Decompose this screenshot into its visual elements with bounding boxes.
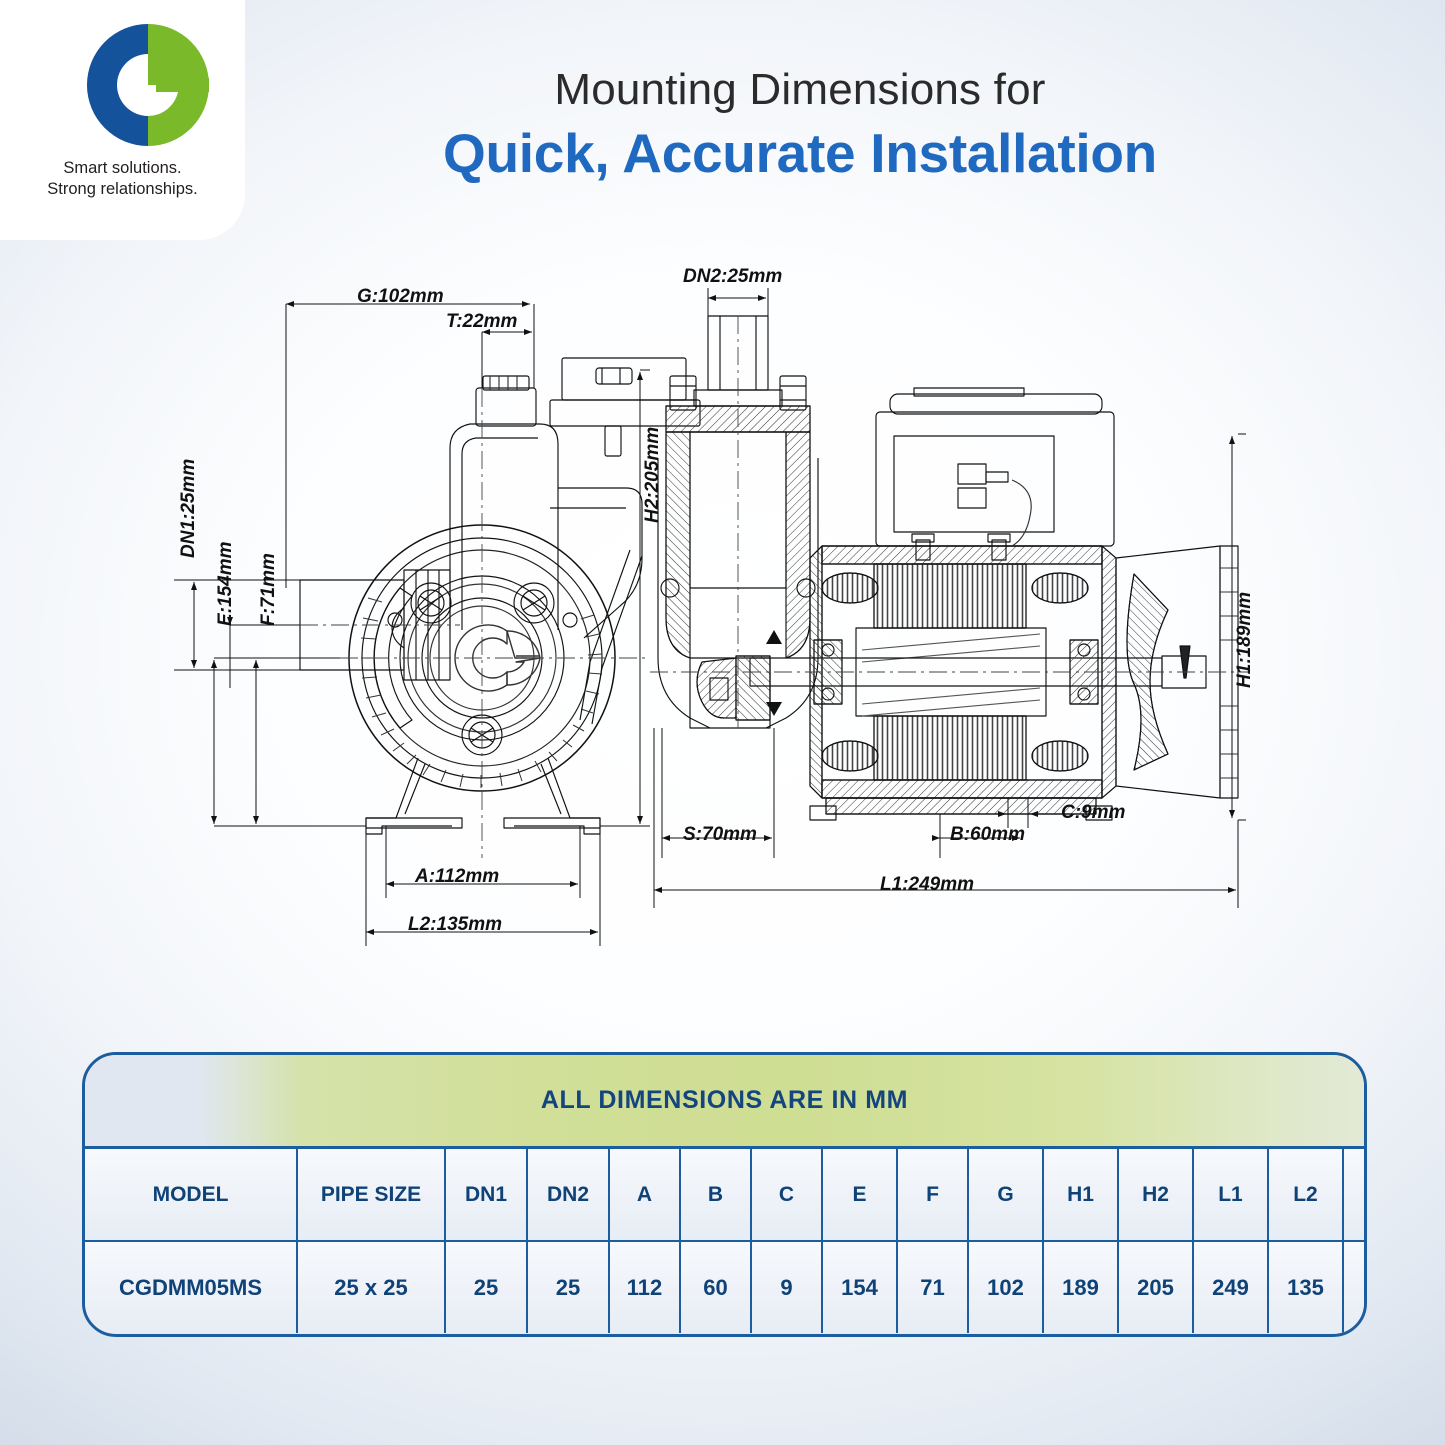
td-f: 71 [897, 1241, 968, 1333]
table-banner-text: ALL DIMENSIONS ARE IN MM [541, 1086, 908, 1115]
td-dn2: 25 [527, 1241, 609, 1333]
cg-logo-icon [78, 20, 218, 150]
dim-label-l2: L2:135mm [408, 914, 502, 936]
title-line-2: Quick, Accurate Installation [250, 120, 1350, 186]
th-pipe-size: PIPE SIZE [297, 1149, 445, 1241]
dimensions-table: MODEL PIPE SIZE DN1 DN2 A B C E F G H1 H… [85, 1149, 1367, 1333]
dimension-lines [174, 288, 1246, 946]
td-l2: 135 [1268, 1241, 1343, 1333]
table-banner: ALL DIMENSIONS ARE IN MM [85, 1055, 1364, 1149]
section-view [650, 316, 1250, 820]
brand-tagline: Smart solutions. Strong relationships. [0, 158, 245, 200]
td-h1: 189 [1043, 1241, 1118, 1333]
td-e: 154 [822, 1241, 897, 1333]
td-g: 102 [968, 1241, 1043, 1333]
tagline-line-2: Strong relationships. [0, 179, 245, 200]
dim-label-t: T:22mm [446, 311, 517, 333]
td-a: 112 [609, 1241, 680, 1333]
th-model: MODEL [85, 1149, 297, 1241]
th-l2: L2 [1268, 1149, 1343, 1241]
td-pipe-size: 25 x 25 [297, 1241, 445, 1333]
dim-label-h2: H2:205mm [642, 427, 664, 523]
tagline-line-1: Smart solutions. [0, 158, 245, 179]
dim-label-a: A:112mm [415, 866, 499, 888]
td-dn1: 25 [445, 1241, 527, 1333]
td-l1: 249 [1193, 1241, 1268, 1333]
dim-label-dn1: DN1:25mm [178, 459, 200, 558]
td-b: 60 [680, 1241, 751, 1333]
dimensions-table-card: ALL DIMENSIONS ARE IN MM MODEL PIPE SIZE… [82, 1052, 1367, 1337]
th-h1: H1 [1043, 1149, 1118, 1241]
technical-drawing-area: G:102mm T:22mm DN1:25mm E:154mm F:71mm H… [150, 258, 1310, 958]
dim-label-s: S:70mm [683, 824, 757, 846]
pump-dimension-drawing [150, 258, 1310, 958]
th-s: S [1343, 1149, 1367, 1241]
th-b: B [680, 1149, 751, 1241]
title-line-1: Mounting Dimensions for [250, 62, 1350, 118]
table-header-row: MODEL PIPE SIZE DN1 DN2 A B C E F G H1 H… [85, 1149, 1367, 1241]
th-dn2: DN2 [527, 1149, 609, 1241]
td-c: 9 [751, 1241, 822, 1333]
dim-label-g: G:102mm [357, 286, 444, 308]
poster-root: Smart solutions. Strong relationships. M… [0, 0, 1445, 1445]
dim-label-h1: H1:189mm [1234, 592, 1256, 688]
td-h2: 205 [1118, 1241, 1193, 1333]
brand-logo-panel: Smart solutions. Strong relationships. [0, 0, 245, 240]
td-s: 70 [1343, 1241, 1367, 1333]
page-title: Mounting Dimensions for Quick, Accurate … [250, 62, 1350, 186]
dim-label-c: C:9mm [1061, 802, 1125, 824]
dim-label-l1: L1:249mm [880, 874, 974, 896]
th-l1: L1 [1193, 1149, 1268, 1241]
td-model: CGDMM05MS [85, 1241, 297, 1333]
th-f: F [897, 1149, 968, 1241]
th-h2: H2 [1118, 1149, 1193, 1241]
th-dn1: DN1 [445, 1149, 527, 1241]
dim-label-e: E:154mm [215, 542, 237, 627]
dim-label-b: B:60mm [950, 824, 1025, 846]
dim-label-f: F:71mm [258, 553, 280, 626]
th-a: A [609, 1149, 680, 1241]
th-g: G [968, 1149, 1043, 1241]
th-c: C [751, 1149, 822, 1241]
dim-label-dn2: DN2:25mm [683, 266, 782, 288]
th-e: E [822, 1149, 897, 1241]
table-row: CGDMM05MS 25 x 25 25 25 112 60 9 154 71 … [85, 1241, 1367, 1333]
